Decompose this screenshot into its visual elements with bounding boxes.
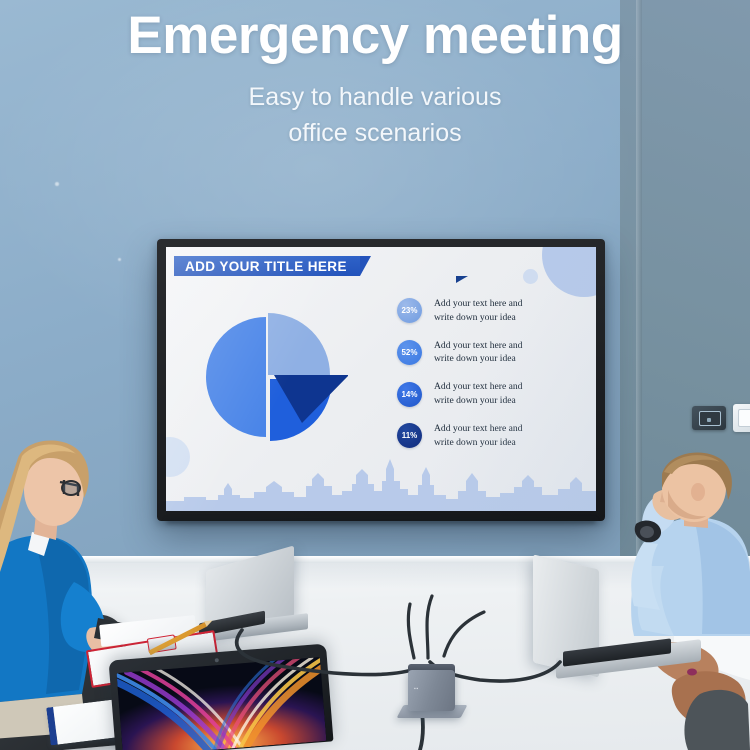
hub-brand-mark: ▪▪ [414,686,419,692]
product-lifestyle-banner: Emergency meeting Easy to handle various… [0,0,750,750]
usb-c-docking-hub[interactable]: ▪▪ [404,659,460,717]
cable-group [0,0,750,750]
cable-plug-c [444,612,484,656]
cable-plug-b [427,596,432,658]
cable-left-laptop [237,630,418,675]
cable-plug-a [408,604,414,658]
